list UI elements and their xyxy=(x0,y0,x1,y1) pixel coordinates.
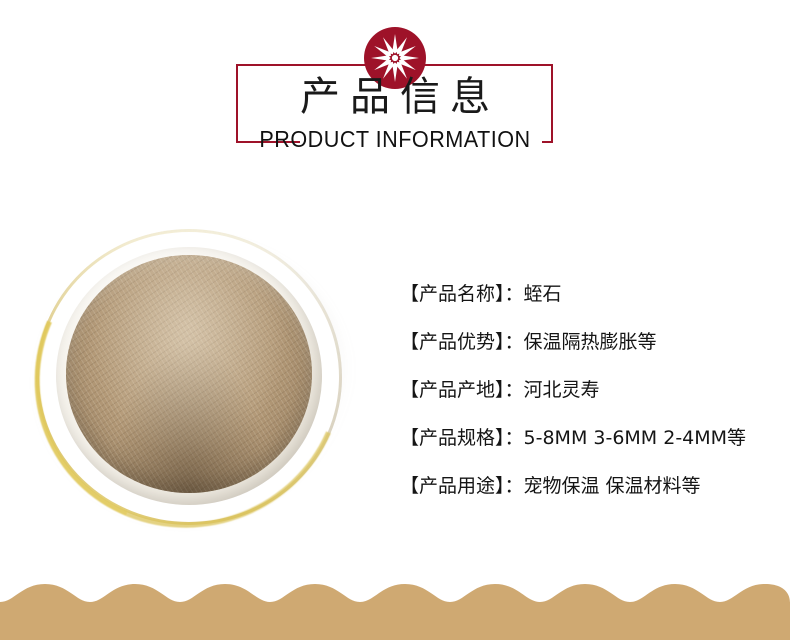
info-row-product-spec: 【产品规格】：5-8MM 3-6MM 2-4MM等 xyxy=(400,414,770,462)
info-label: 【产品名称】： xyxy=(400,283,524,305)
page-header: 产品信息 PRODUCT INFORMATION xyxy=(0,0,790,175)
info-row-product-use: 【产品用途】：宠物保温 保温材料等 xyxy=(400,462,770,510)
page-title: 产品信息 xyxy=(0,72,790,122)
product-info-list: 【产品名称】：蛭石 【产品优势】：保温隔热膨胀等 【产品产地】：河北灵寿 【产品… xyxy=(400,270,770,510)
info-value: 宠物保温 保温材料等 xyxy=(524,475,701,497)
info-row-product-advantage: 【产品优势】：保温隔热膨胀等 xyxy=(400,318,770,366)
vermiculite-granules xyxy=(66,255,312,493)
info-value: 5-8MM 3-6MM 2-4MM等 xyxy=(524,427,747,449)
granule-heap-shading xyxy=(66,255,312,493)
product-image xyxy=(20,215,360,525)
info-value: 蛭石 xyxy=(524,283,562,305)
info-label: 【产品用途】： xyxy=(400,475,524,497)
info-row-product-origin: 【产品产地】：河北灵寿 xyxy=(400,366,770,414)
info-value: 保温隔热膨胀等 xyxy=(524,331,657,353)
info-label: 【产品产地】： xyxy=(400,379,524,401)
info-row-product-name: 【产品名称】：蛭石 xyxy=(400,270,770,318)
info-label: 【产品优势】： xyxy=(400,331,524,353)
info-value: 河北灵寿 xyxy=(524,379,600,401)
page-subtitle: PRODUCT INFORMATION xyxy=(24,126,767,152)
footer-wave-decoration xyxy=(0,584,790,640)
info-label: 【产品规格】： xyxy=(400,427,524,449)
